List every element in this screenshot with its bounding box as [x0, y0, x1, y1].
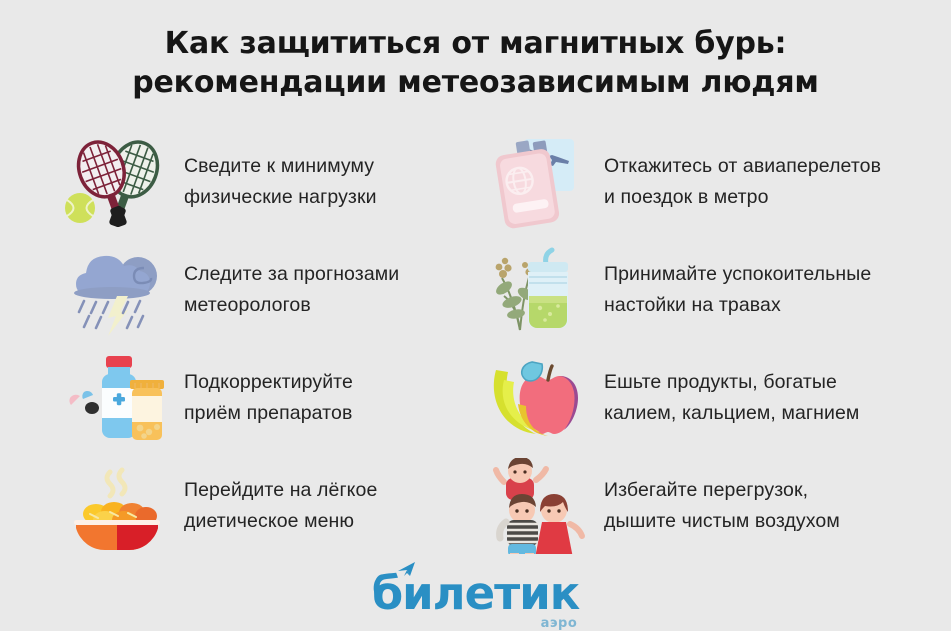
rain-cloud-lightning-icon — [62, 240, 170, 340]
title-line-2: рекомендации метеозависимым людям — [0, 63, 951, 102]
tip-item-avoid-flights: Откажитесь от авиаперелетов и поездок в … — [482, 128, 943, 236]
passport-airplane-icon — [482, 132, 590, 232]
banana-apple-icon — [482, 348, 590, 448]
tip-text: Откажитесь от авиаперелетов и поездок в … — [604, 151, 881, 213]
tennis-rackets-icon — [62, 132, 170, 232]
tip-text: Избегайте перегрузок, дышите чистым возд… — [604, 475, 840, 537]
tip-item-adjust-medication: Подкорректируйте приём препаратов — [62, 344, 482, 452]
herbal-drink-jar-icon — [482, 240, 590, 340]
tip-text: Следите за прогнозами метеорологов — [184, 259, 399, 321]
tip-item-physical-activity: Сведите к минимуму физические нагрузки — [62, 128, 482, 236]
tip-line-2: физические нагрузки — [184, 182, 377, 213]
tip-line-1: Подкорректируйте — [184, 371, 353, 393]
brand-logo-sub: аэро — [541, 616, 578, 631]
tip-item-potassium-foods: Ешьте продукты, богатые калием, кальцием… — [482, 344, 943, 452]
medicine-bottles-icon — [62, 348, 170, 448]
tip-item-light-diet: Перейдите на лёгкое диетическое меню — [62, 452, 482, 560]
tip-text: Сведите к минимуму физические нагрузки — [184, 151, 377, 213]
children-family-icon — [482, 456, 590, 556]
tip-line-2: дышите чистым воздухом — [604, 506, 840, 537]
tip-line-1: Избегайте перегрузок, — [604, 479, 808, 501]
tip-line-2: диетическое меню — [184, 506, 377, 537]
tip-line-2: и поездок в метро — [604, 182, 881, 213]
tip-line-1: Принимайте успокоительные — [604, 263, 871, 285]
tip-line-1: Откажитесь от авиаперелетов — [604, 155, 881, 177]
tips-grid: Сведите к минимуму физические нагрузки — [0, 128, 951, 560]
title-line-1: Как защититься от магнитных бурь: — [0, 24, 951, 63]
tip-text: Подкорректируйте приём препаратов — [184, 367, 353, 429]
tip-line-1: Ешьте продукты, богатые — [604, 371, 837, 393]
tip-item-avoid-overload: Избегайте перегрузок, дышите чистым возд… — [482, 452, 943, 560]
tip-text: Ешьте продукты, богатые калием, кальцием… — [604, 367, 859, 429]
airplane-icon — [396, 560, 418, 583]
tip-line-1: Перейдите на лёгкое — [184, 479, 377, 501]
tip-line-2: приём препаратов — [184, 398, 353, 429]
tip-text: Перейдите на лёгкое диетическое меню — [184, 475, 377, 537]
tip-text: Принимайте успокоительные настойки на тр… — [604, 259, 871, 321]
tip-line-2: настойки на травах — [604, 290, 871, 321]
tip-item-weather-forecast: Следите за прогнозами метеорологов — [62, 236, 482, 344]
tip-line-1: Следите за прогнозами — [184, 263, 399, 285]
brand-logo[interactable]: билетик аэро — [0, 571, 951, 616]
hot-food-bowl-icon — [62, 456, 170, 556]
tip-line-1: Сведите к минимуму — [184, 155, 374, 177]
tip-line-2: калием, кальцием, магнием — [604, 398, 859, 429]
tip-line-2: метеорологов — [184, 290, 399, 321]
tip-item-herbal-tinctures: Принимайте успокоительные настойки на тр… — [482, 236, 943, 344]
page-title: Как защититься от магнитных бурь: рекоме… — [0, 0, 951, 102]
infographic-root: Как защититься от магнитных бурь: рекоме… — [0, 0, 951, 622]
